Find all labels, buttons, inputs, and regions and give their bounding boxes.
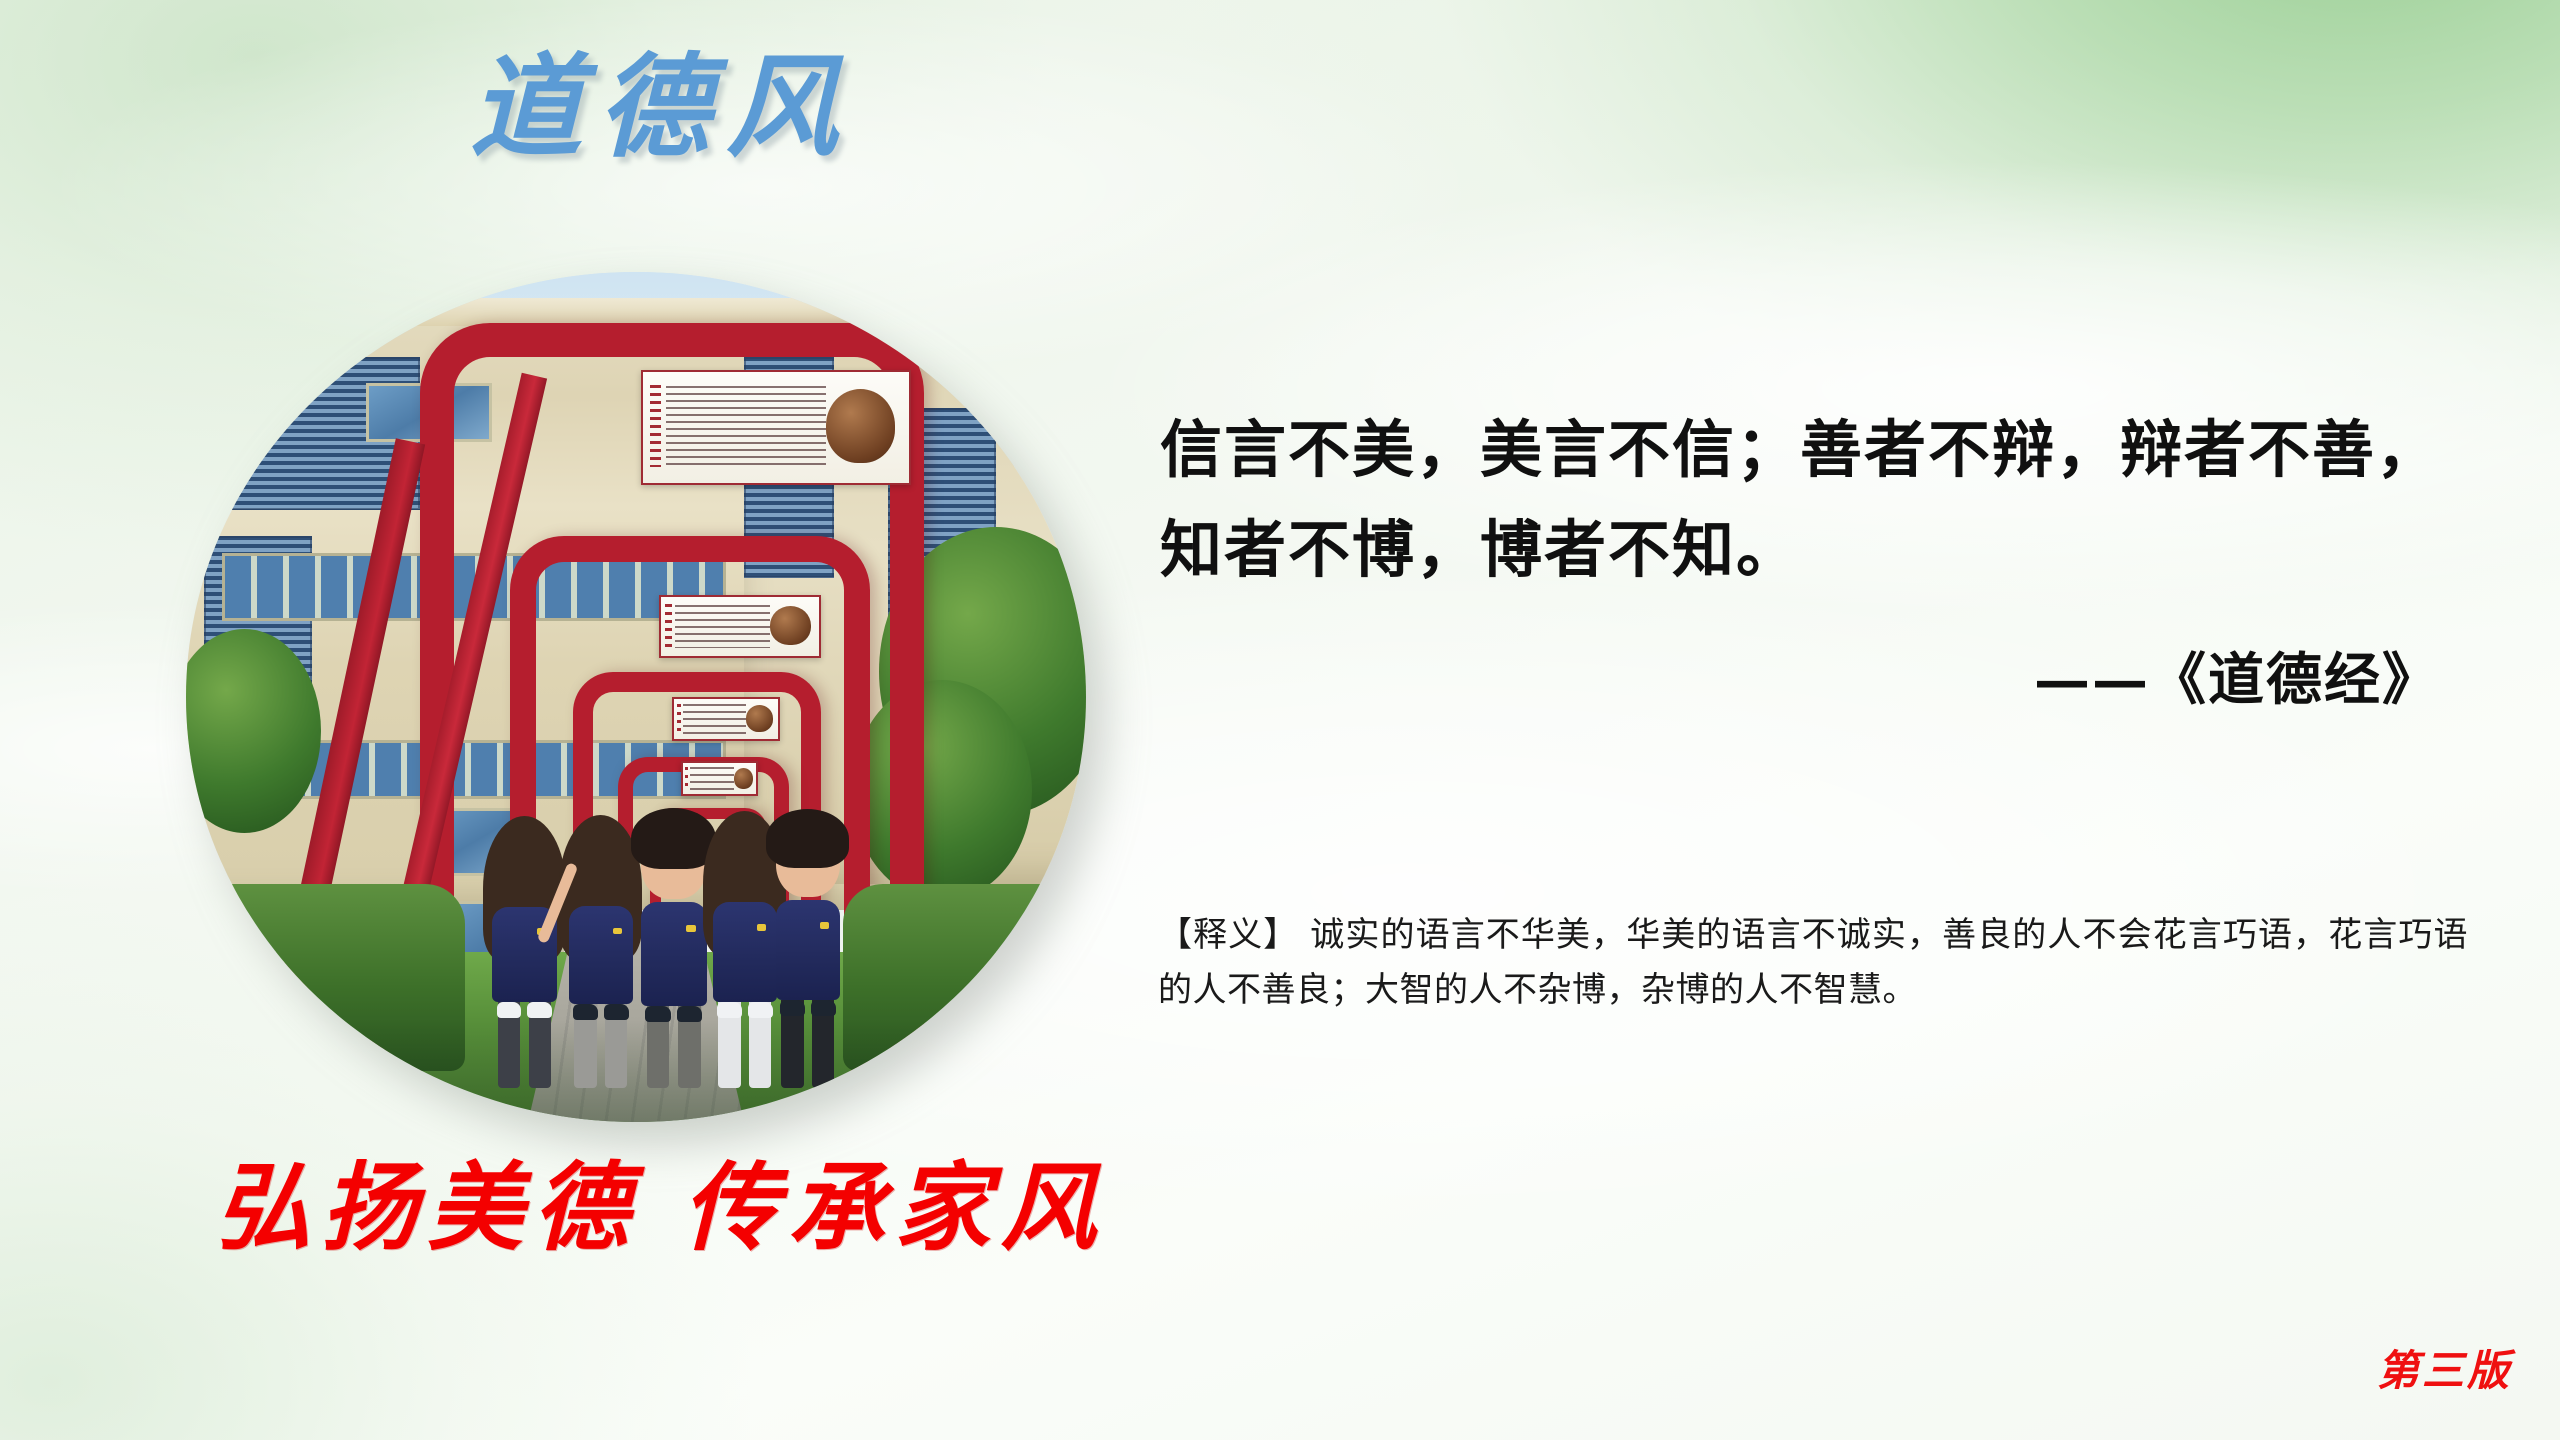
person-head xyxy=(569,827,634,903)
person-3 xyxy=(641,821,708,1088)
person-shoe xyxy=(811,1000,836,1016)
culture-board xyxy=(641,370,911,485)
ground-shadow xyxy=(186,1020,1086,1122)
uniform-badge xyxy=(686,925,695,932)
photo-container xyxy=(186,272,1086,1122)
person-legs xyxy=(781,1000,834,1088)
photo-scene xyxy=(186,272,1086,1122)
person-1 xyxy=(492,828,557,1088)
board-text-lines xyxy=(683,704,745,734)
explanation-text: 【释义】 诚实的语言不华美，华美的语言不诚实，善良的人不会花言巧语，花言巧语的人… xyxy=(1158,908,2468,1018)
person-uniform xyxy=(569,906,634,1004)
person-shoe xyxy=(604,1004,629,1020)
person-legs xyxy=(498,1002,551,1088)
board-illustration xyxy=(770,606,811,645)
person-head xyxy=(492,828,557,904)
person-leg xyxy=(605,1004,627,1088)
person-4 xyxy=(713,823,778,1088)
person-leg xyxy=(812,1000,834,1088)
person-leg xyxy=(749,1002,771,1088)
person-hair xyxy=(631,808,716,869)
uniform-badge xyxy=(820,922,829,929)
uniform-badge xyxy=(613,928,622,935)
person-shoe xyxy=(645,1006,671,1022)
person-shoe xyxy=(717,1002,742,1018)
person-hair xyxy=(766,809,849,869)
board-illustration xyxy=(826,389,895,462)
person-leg xyxy=(718,1002,740,1088)
person-leg xyxy=(647,1006,670,1088)
board-text-lines xyxy=(690,767,734,790)
board-illustration xyxy=(746,705,773,732)
person-shoe xyxy=(780,1000,805,1016)
culture-board xyxy=(672,697,780,741)
culture-board xyxy=(659,595,821,658)
person-5 xyxy=(776,821,841,1088)
person-uniform xyxy=(776,900,841,1000)
person-uniform xyxy=(713,902,778,1002)
person-leg xyxy=(529,1002,551,1088)
circular-campus-photo xyxy=(186,272,1086,1122)
person-leg xyxy=(781,1000,803,1088)
culture-board xyxy=(681,761,758,797)
slogan-text: 弘扬美德 传承家风 xyxy=(215,1158,1106,1259)
board-text-lines xyxy=(675,605,770,649)
quote-source: ——《道德经》 xyxy=(1160,635,2450,716)
person-shoe xyxy=(573,1004,598,1020)
person-shoe xyxy=(497,1002,522,1018)
person-legs xyxy=(574,1004,627,1088)
board-side-rule xyxy=(650,385,661,467)
person-2 xyxy=(569,827,634,1088)
person-legs xyxy=(647,1006,702,1088)
person-shoe xyxy=(527,1002,552,1018)
board-side-rule xyxy=(685,767,688,790)
quote-line-1: 信言不美，美言不信；善者不辩，辩者不善， xyxy=(1160,400,2450,500)
board-text-lines xyxy=(666,386,826,468)
person-uniform xyxy=(641,902,708,1006)
person-head xyxy=(641,821,708,900)
board-illustration xyxy=(734,768,753,789)
person-legs xyxy=(718,1002,771,1088)
board-side-rule xyxy=(665,604,671,648)
page-mark: 第三版 xyxy=(2377,1337,2512,1398)
person-leg xyxy=(574,1004,596,1088)
person-head xyxy=(776,821,841,897)
quote-block: 信言不美，美言不信；善者不辩，辩者不善， 知者不博，博者不知。 ——《道德经》 xyxy=(1160,400,2450,716)
poster-page: 道德风 xyxy=(0,0,2560,1440)
person-shoe xyxy=(748,1002,773,1018)
person-shoe xyxy=(677,1006,703,1022)
page-title: 道德风 xyxy=(470,52,854,164)
person-leg xyxy=(678,1006,701,1088)
uniform-badge xyxy=(757,924,766,931)
board-side-rule xyxy=(677,704,681,734)
quote-line-2: 知者不博，博者不知。 xyxy=(1160,500,2450,600)
person-leg xyxy=(498,1002,520,1088)
